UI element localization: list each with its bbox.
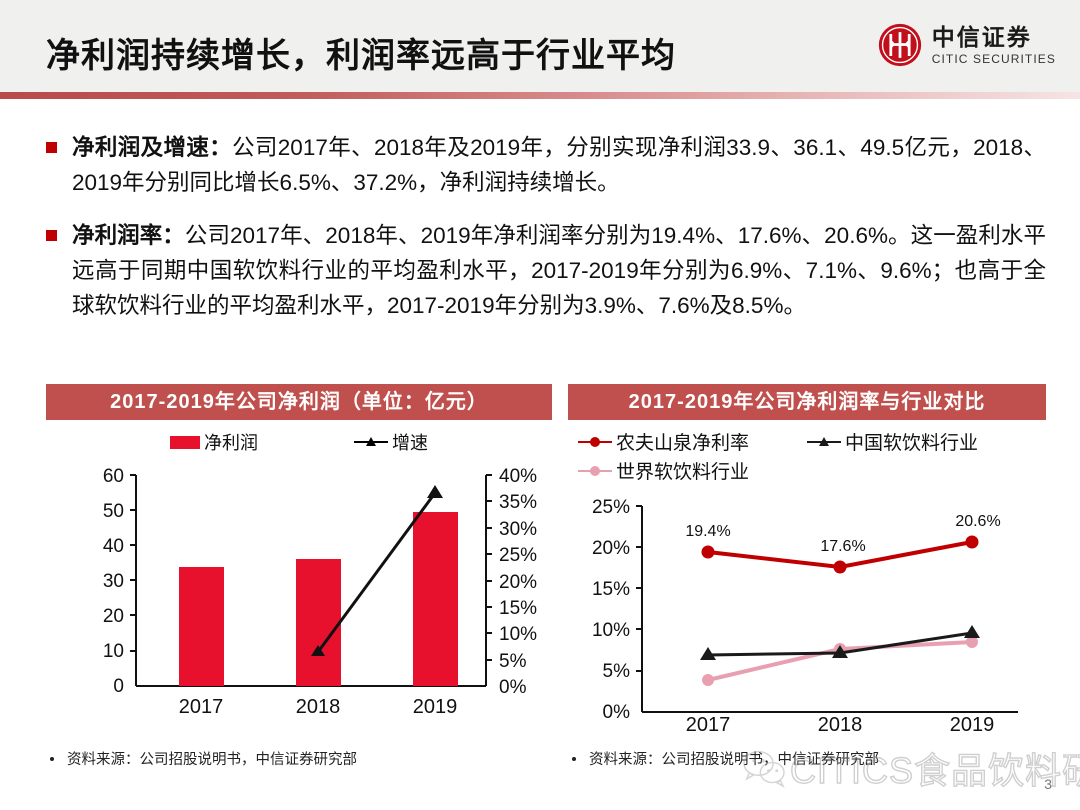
china-point-2019 [964,625,980,638]
bullet-label: 净利润及增速： [72,135,232,160]
y-tick-label: 20 [103,606,124,627]
line-circle-swatch-icon [578,435,612,449]
left-source-note: 资料来源：公司招股说明书，中信证券研究部 [50,748,357,769]
bar-swatch-icon [170,436,200,449]
net-profit-chart-svg: 60 50 40 30 20 10 0 [46,455,552,720]
y-tick-label: 60 [103,466,124,487]
logo-text-en: CITIC SECURITIES [932,53,1056,65]
y2-tick-label: 20% [499,572,537,593]
x-tick-label: 2017 [179,696,224,718]
bar-2019 [413,512,458,686]
logo-text-cn: 中信证券 [932,26,1056,49]
bar-2018 [296,559,341,686]
brand-logo: 中信证券 CITIC SECURITIES [877,22,1056,68]
line-circle-swatch-icon [578,464,612,478]
y-tick-label: 30 [103,571,124,592]
right-chart-legend: 农夫山泉净利率 中国软饮料行业 世界软饮料行业 [568,428,1046,484]
y-tick-label: 5% [603,661,631,682]
legend-item-china-softdrink: 中国软饮料行业 [807,428,978,455]
y-tick-label: 40 [103,536,124,557]
bullet-body: 净利润及增速：公司2017年、2018年及2019年，分别实现净利润33.9、3… [72,130,1046,200]
y-tick-label: 20% [592,538,630,559]
right-chart-panel: 2017-2019年公司净利润率与行业对比 农夫山泉净利率 中国软饮料 [568,384,1046,734]
list-item: 净利润率：公司2017年、2018年、2019年净利润率分别为19.4%、17.… [46,218,1046,323]
legend-label: 增速 [392,429,428,455]
legend-label: 净利润 [204,429,258,455]
nongfu-point-2017 [702,546,715,559]
y-tick-label: 10% [592,620,630,641]
legend-label: 农夫山泉净利率 [616,428,749,455]
growth-marker-2019 [427,485,443,498]
x-tick-label: 2018 [818,714,863,734]
world-point-2017 [702,674,714,686]
nongfu-point-2018 [834,561,847,574]
slide: 净利润持续增长，利润率远高于行业平均 中信证券 CITIC SECURITIES… [0,0,1080,810]
bullet-body: 净利润率：公司2017年、2018年、2019年净利润率分别为19.4%、17.… [72,218,1046,323]
y-tick-label: 0 [113,676,124,697]
source-text: 资料来源：公司招股说明书，中信证券研究部 [67,748,357,769]
right-chart-title: 2017-2019年公司净利润率与行业对比 [568,384,1046,420]
net-profit-bar-chart: 60 50 40 30 20 10 0 [46,455,552,720]
x-tick-label: 2019 [413,696,458,718]
legend-item-world-softdrink: 世界软饮料行业 [578,457,749,484]
y-tick-label: 0% [603,702,631,723]
left-chart-panel: 2017-2019年公司净利润（单位：亿元） 净利润 增速 60 50 40 [46,384,552,720]
list-item: 净利润及增速：公司2017年、2018年及2019年，分别实现净利润33.9、3… [46,130,1046,200]
y-tick-label: 10 [103,641,124,662]
legend-item-nongfu: 农夫山泉净利率 [578,428,749,455]
data-label-2019: 20.6% [955,513,1000,530]
source-text: 资料来源：公司招股说明书，中信证券研究部 [589,748,879,769]
y2-tick-label: 35% [499,492,537,513]
page-title: 净利润持续增长，利润率远高于行业平均 [46,28,676,77]
x-tick-label: 2017 [686,714,731,734]
dot-bullet-icon [50,757,54,761]
y2-tick-label: 0% [499,677,527,698]
profit-margin-line-chart: 25% 20% 15% 10% 5% 0% [568,484,1046,734]
square-bullet-icon [46,142,57,153]
data-label-2017: 19.4% [685,523,730,540]
nongfu-point-2019 [966,536,979,549]
profit-margin-chart-svg: 25% 20% 15% 10% 5% 0% [568,484,1046,734]
y2-tick-label: 15% [499,598,537,619]
square-bullet-icon [46,230,57,241]
page-number: 3 [1044,776,1052,792]
bullet-label: 净利润率： [72,223,185,248]
legend-item-growth: 增速 [354,429,428,455]
legend-item-net-profit: 净利润 [170,429,258,455]
data-label-2018: 17.6% [820,538,865,555]
y-tick-label: 50 [103,501,124,522]
bullet-content: 公司2017年、2018年、2019年净利润率分别为19.4%、17.6%、20… [72,223,1046,318]
line-triangle-swatch-icon [354,435,388,449]
line-triangle-swatch-icon [807,435,841,449]
header-divider [0,92,1080,99]
y2-tick-label: 5% [499,651,527,672]
x-tick-label: 2019 [950,714,995,734]
y2-tick-label: 40% [499,466,537,487]
legend-label: 中国软饮料行业 [845,428,978,455]
left-chart-legend: 净利润 增速 [46,429,552,455]
right-source-note: 资料来源：公司招股说明书，中信证券研究部 [572,748,879,769]
dot-bullet-icon [572,757,576,761]
legend-label: 世界软饮料行业 [616,457,749,484]
bullet-list: 净利润及增速：公司2017年、2018年及2019年，分别实现净利润33.9、3… [46,130,1046,341]
y2-tick-label: 10% [499,624,537,645]
left-chart-title: 2017-2019年公司净利润（单位：亿元） [46,384,552,420]
bar-2017 [179,567,224,686]
x-tick-label: 2018 [296,696,341,718]
citic-circle-logo-icon [877,22,923,68]
y2-tick-label: 25% [499,545,537,566]
y2-tick-label: 30% [499,519,537,540]
y-tick-label: 25% [592,497,630,518]
y-tick-label: 15% [592,579,630,600]
